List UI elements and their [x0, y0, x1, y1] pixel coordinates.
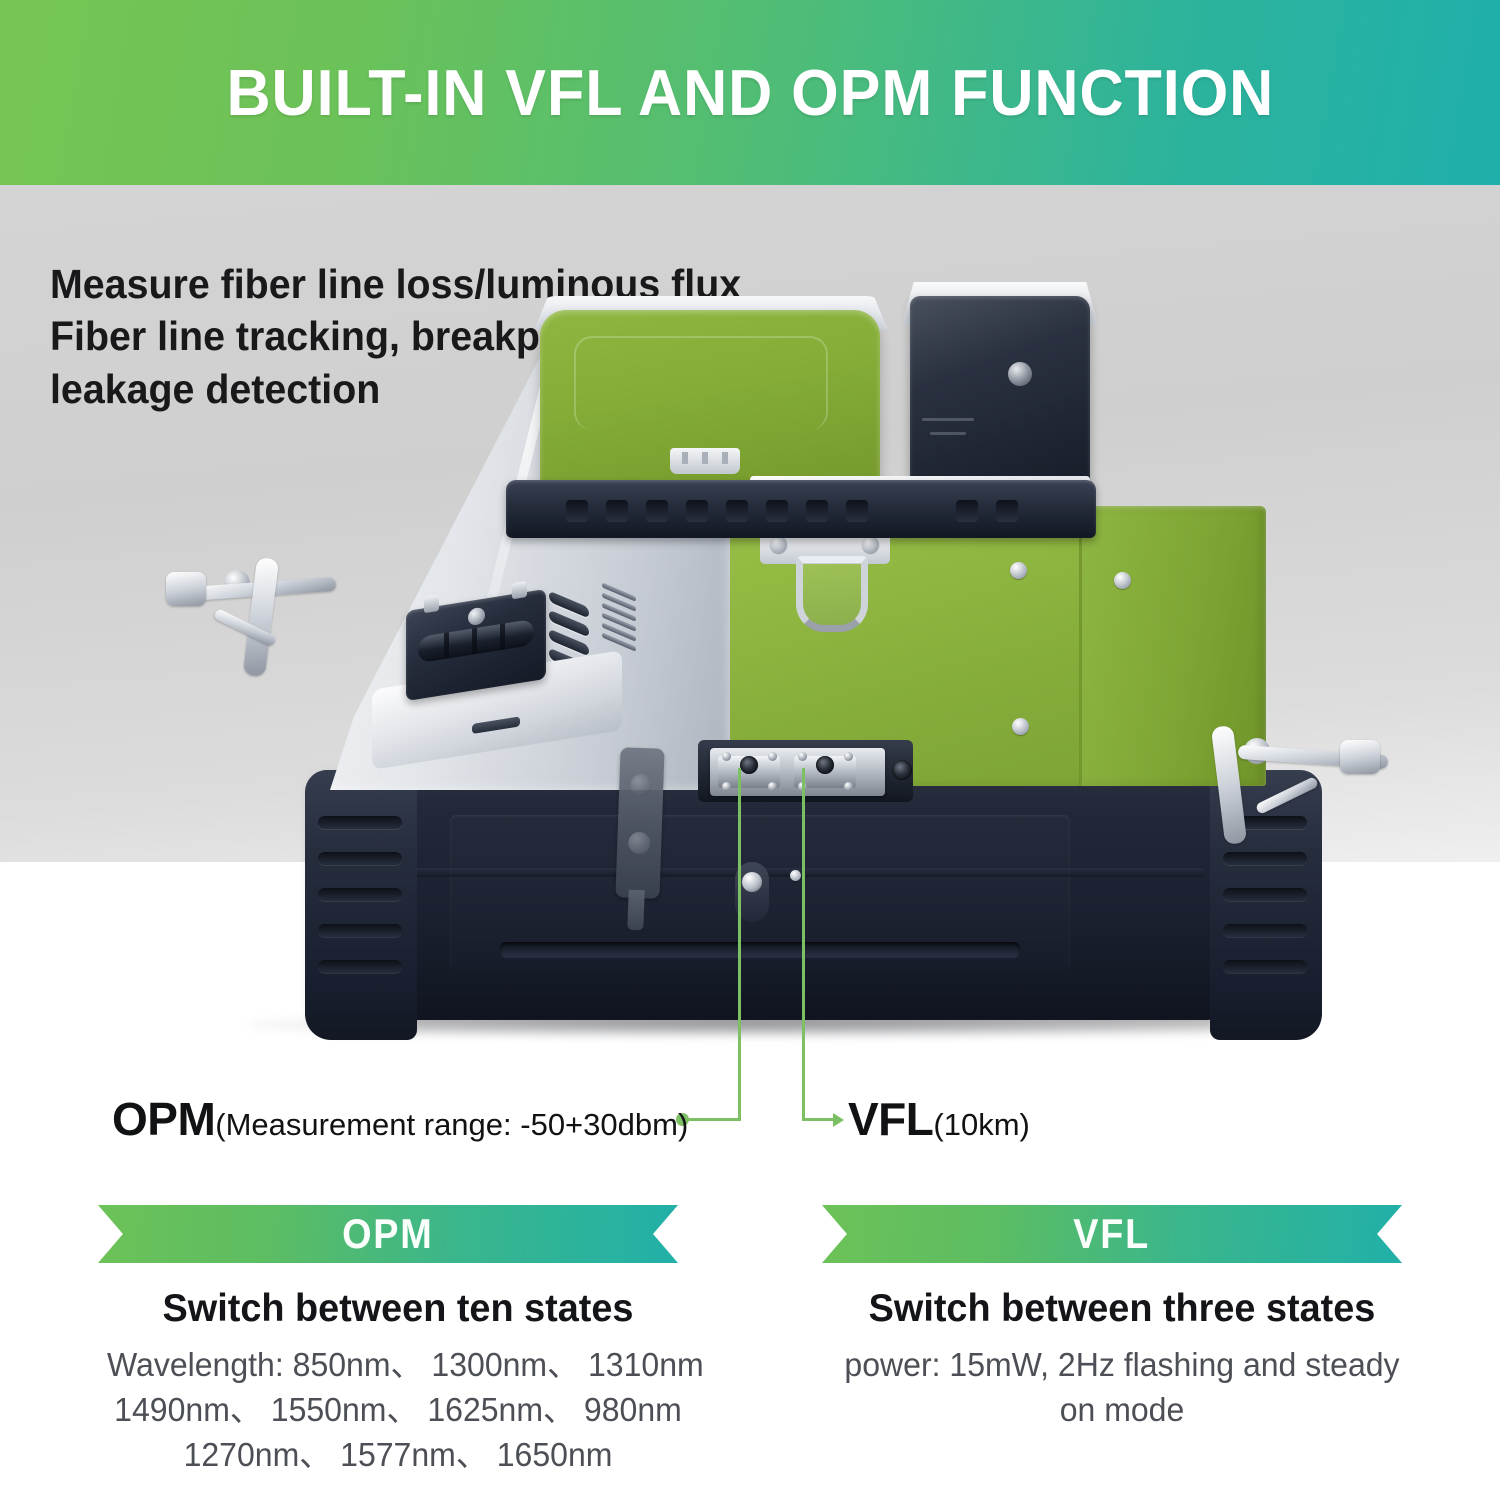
spec-body-opm: Wavelength: 850nm、 1300nm、 1310nm 1490nm… [107, 1343, 689, 1478]
header-banner: BUILT-IN VFL AND OPM FUNCTION [0, 0, 1500, 185]
product-hood-tab [670, 448, 740, 474]
product-body-seam [1079, 506, 1082, 786]
product-green-right-face [1080, 506, 1266, 786]
product-port-flap-tail [627, 890, 644, 931]
ribbon-label-opm: OPM [342, 1213, 434, 1255]
product-screw [1010, 562, 1027, 579]
product-port-block [710, 748, 885, 796]
spec-heading-opm: Switch between ten states [107, 1287, 689, 1331]
spec-section-vfl: VFL Switch between three states power: 1… [822, 1205, 1422, 1433]
product-heater-dial [1008, 362, 1032, 386]
infographic-page: BUILT-IN VFL AND OPM FUNCTION Measure fi… [0, 0, 1500, 1500]
page-title: BUILT-IN VFL AND OPM FUNCTION [226, 60, 1274, 125]
product-lever-tip [166, 572, 206, 606]
ribbon-banner-opm: OPM [98, 1205, 678, 1263]
callout-opm-detail: (Measurement range: -50+30dbm) [215, 1107, 688, 1142]
product-hood-crease [574, 336, 828, 430]
product-latch-hook [796, 556, 868, 632]
product-image-fusion-splicer [150, 270, 1380, 1060]
spec-vfl-line-1: power: 15mW, 2Hz flashing and steady [831, 1343, 1413, 1388]
callout-vfl-title: VFL [848, 1093, 933, 1145]
spec-vfl-line-2: on mode [831, 1388, 1413, 1433]
product-lever-bar [243, 557, 279, 677]
product-port-flap [615, 747, 664, 898]
callout-opm-title: OPM [112, 1093, 215, 1145]
product-port-hole-extra [892, 760, 912, 780]
spec-section-opm: OPM Switch between ten states Wavelength… [98, 1205, 698, 1478]
product-screw [1012, 718, 1029, 735]
callout-vfl: VFL(10km) [848, 1092, 1030, 1146]
leader-line-opm-horizontal [686, 1118, 741, 1121]
callout-opm: OPM(Measurement range: -50+30dbm) [112, 1092, 688, 1146]
product-screw [770, 536, 787, 553]
leader-arrow-vfl [833, 1113, 844, 1127]
product-lever-tip [1340, 740, 1380, 774]
spec-body-vfl: power: 15mW, 2Hz flashing and steady on … [831, 1343, 1413, 1433]
leader-line-opm-vertical [738, 768, 741, 1120]
product-screw [790, 870, 801, 881]
spec-heading-vfl: Switch between three states [831, 1287, 1413, 1331]
product-port-hole-vfl [816, 756, 834, 774]
product-collar [506, 480, 1096, 538]
callout-vfl-detail: (10km) [933, 1107, 1029, 1142]
spec-opm-line-3: 1270nm、 1577nm、 1650nm [107, 1433, 689, 1478]
product-screw [862, 536, 879, 553]
product-base-slot [500, 942, 1020, 958]
product-heater-module [910, 296, 1090, 496]
product-base-groove [335, 868, 1205, 877]
spec-opm-line-1: Wavelength: 850nm、 1300nm、 1310nm [107, 1343, 689, 1388]
ribbon-label-vfl: VFL [1074, 1213, 1151, 1255]
ribbon-banner-vfl: VFL [822, 1205, 1402, 1263]
product-port-hole-opm [740, 756, 758, 774]
product-screw [1114, 572, 1131, 589]
spec-opm-line-2: 1490nm、 1550nm、 1625nm、 980nm [107, 1388, 689, 1433]
leader-line-vfl-vertical [802, 768, 805, 1120]
product-bumper-left [305, 770, 417, 1040]
